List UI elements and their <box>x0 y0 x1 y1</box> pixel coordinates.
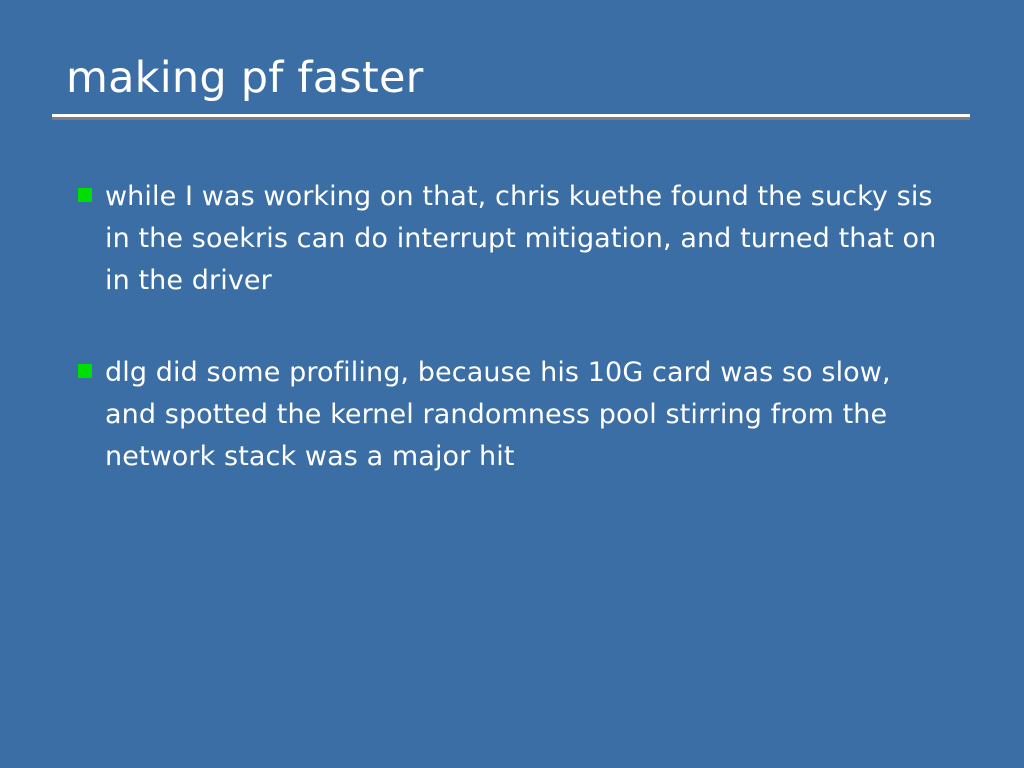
list-item: dlg did some profiling, because his 10G … <box>78 352 958 478</box>
page-title: making pf faster <box>52 50 972 106</box>
list-item: while I was working on that, chris kueth… <box>78 176 958 302</box>
square-bullet-icon <box>78 364 92 378</box>
slide-title-block: making pf faster <box>52 50 972 117</box>
slide-body-content: while I was working on that, chris kueth… <box>78 176 958 478</box>
title-underline-rule <box>52 114 970 117</box>
presentation-slide: making pf faster while I was working on … <box>0 0 1024 768</box>
list-item-label: while I was working on that, chris kueth… <box>105 176 941 302</box>
square-bullet-icon <box>78 188 92 202</box>
list-item-label: dlg did some profiling, because his 10G … <box>105 352 941 478</box>
